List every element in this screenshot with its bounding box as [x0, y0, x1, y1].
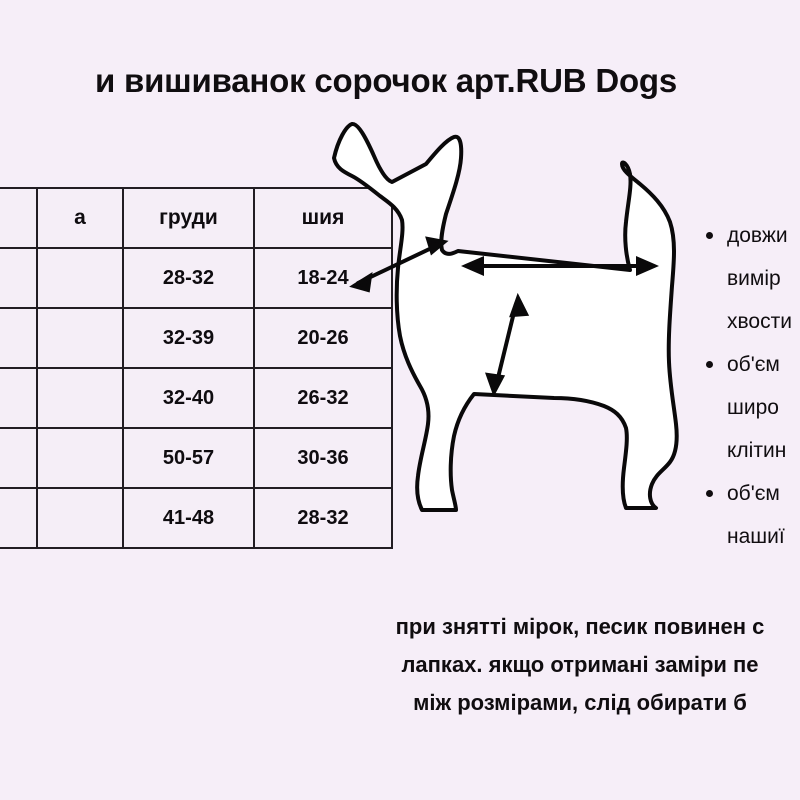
cell-chest: 32-39 [123, 308, 254, 368]
column-header-size [0, 188, 37, 248]
measurement-bullet-list: довжи вимір хвости об'єм широ клітин об'… [704, 214, 800, 558]
cell-length [37, 248, 123, 308]
dog-measurement-diagram [330, 118, 696, 528]
note-line: лапках. якщо отримані заміри пе [110, 646, 800, 684]
bullet-line: широ [727, 396, 779, 419]
bullet-line: довжи [727, 224, 788, 247]
bullet-item-neck: об'єм нашиї [704, 472, 800, 558]
cell-size [0, 488, 37, 548]
cell-chest: 50-57 [123, 428, 254, 488]
cell-size [0, 368, 37, 428]
cell-length [37, 488, 123, 548]
page-title: и вишиванок сорочок арт.RUB Dogs [0, 62, 800, 100]
dog-body-outline [334, 124, 677, 510]
cell-length [37, 428, 123, 488]
bullet-line: об'єм [727, 482, 780, 505]
cell-chest: 32-40 [123, 368, 254, 428]
bullet-line: нашиї [727, 525, 785, 548]
bullet-item-chest: об'єм широ клітин [704, 343, 800, 472]
note-line: при знятті мірок, песик повинен с [110, 608, 800, 646]
cell-size [0, 248, 37, 308]
cell-length [37, 308, 123, 368]
bullet-item-length: довжи вимір хвости [704, 214, 800, 343]
column-header-chest: груди [123, 188, 254, 248]
bullet-line: клітин [727, 439, 786, 462]
cell-length [37, 368, 123, 428]
bullet-line: вимір [727, 267, 781, 290]
bullet-line: хвости [727, 310, 792, 333]
size-chart-page: и вишиванок сорочок арт.RUB Dogs а груди… [0, 0, 800, 800]
note-line: між розмірами, слід обирати б [110, 684, 800, 722]
cell-chest: 28-32 [123, 248, 254, 308]
cell-size [0, 428, 37, 488]
cell-chest: 41-48 [123, 488, 254, 548]
measurement-note: при знятті мірок, песик повинен с лапках… [110, 608, 800, 722]
column-header-length: а [37, 188, 123, 248]
cell-size [0, 308, 37, 368]
bullet-line: об'єм [727, 353, 780, 376]
